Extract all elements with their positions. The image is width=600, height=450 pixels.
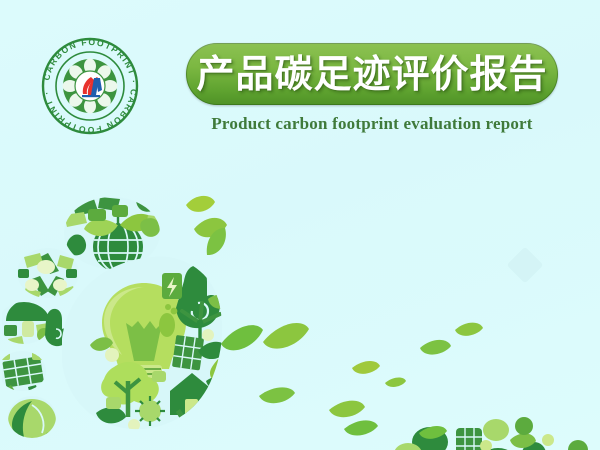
mushroom-icon bbox=[2, 299, 56, 349]
hand-icon bbox=[45, 309, 70, 346]
globe-icon bbox=[60, 195, 165, 273]
footprint-icon bbox=[159, 304, 177, 337]
title-banner: 产品碳足迹评价报告 bbox=[186, 43, 558, 105]
sun-icon bbox=[135, 396, 165, 426]
battery-icon bbox=[162, 273, 182, 299]
page-title: 产品碳足迹评价报告 bbox=[196, 55, 547, 93]
page-subtitle: Product carbon footprint evaluation repo… bbox=[186, 114, 558, 134]
footprint-ball-collage bbox=[62, 250, 242, 435]
recycle-icon bbox=[14, 245, 86, 303]
solar-panel-icon bbox=[172, 335, 204, 371]
watermark-diamond bbox=[507, 247, 544, 284]
report-header: CARBON FOOTPRINT · CARBON FOOTPRINT · bbox=[0, 0, 600, 160]
carbon-footprint-seal: CARBON FOOTPRINT · CARBON FOOTPRINT · bbox=[38, 34, 142, 138]
recycle-icon bbox=[172, 409, 189, 434]
lightbulb-icon bbox=[102, 283, 186, 381]
footprint-collage-main bbox=[2, 195, 322, 450]
house-icon bbox=[170, 373, 214, 415]
water-drop-icon bbox=[210, 359, 226, 381]
wind-turbine-icon bbox=[182, 303, 220, 357]
hand-icon bbox=[176, 266, 220, 329]
tree-icon bbox=[101, 362, 159, 417]
slide-canvas: CARBON FOOTPRINT · CARBON FOOTPRINT · bbox=[0, 0, 600, 450]
solar-panel-icon bbox=[2, 347, 54, 400]
footprint-collage-secondary bbox=[378, 392, 600, 450]
leaf-icon bbox=[2, 393, 64, 445]
leaf-icon bbox=[186, 196, 483, 439]
